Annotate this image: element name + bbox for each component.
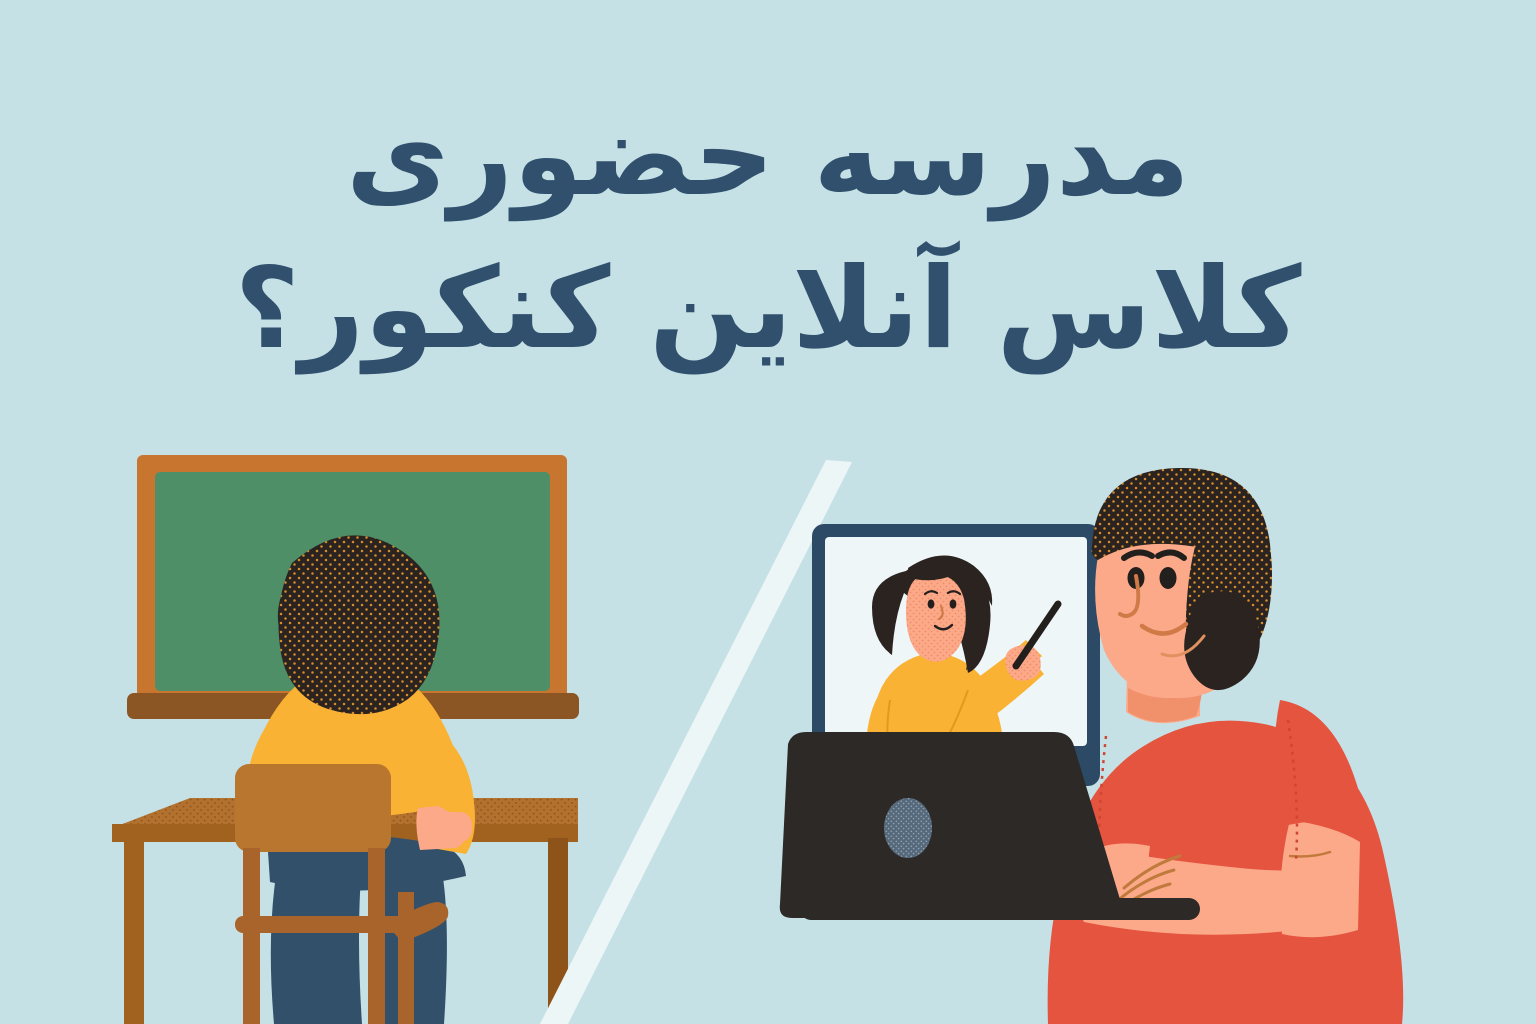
headline-line-1: مدرسه حضوری — [0, 96, 1536, 217]
laptop-logo — [884, 798, 932, 858]
laptop-base — [800, 898, 1200, 920]
chair-back-rest — [235, 764, 391, 852]
laptop-lid — [780, 732, 1123, 918]
headline: مدرسه حضوری کلاس آنلاین کنکور؟ — [0, 96, 1536, 370]
poster-canvas: مدرسه حضوری کلاس آنلاین کنکور؟ — [0, 0, 1536, 1024]
headline-line-2: کلاس آنلاین کنکور؟ — [0, 249, 1536, 370]
